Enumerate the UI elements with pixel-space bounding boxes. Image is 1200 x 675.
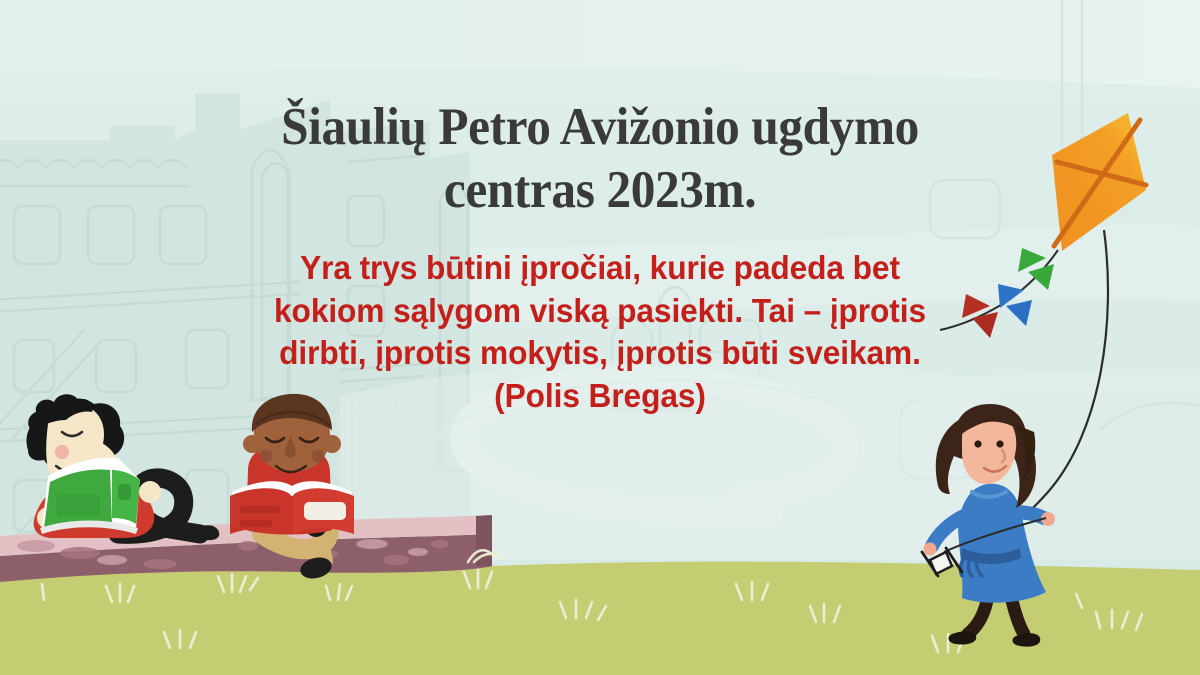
girl-dress	[932, 484, 1046, 603]
girl-hand-left	[924, 543, 937, 556]
slide-canvas: Šiaulių Petro Avižonio ugdymo centras 20…	[0, 0, 1200, 675]
girl-flying-kite	[0, 0, 1200, 675]
